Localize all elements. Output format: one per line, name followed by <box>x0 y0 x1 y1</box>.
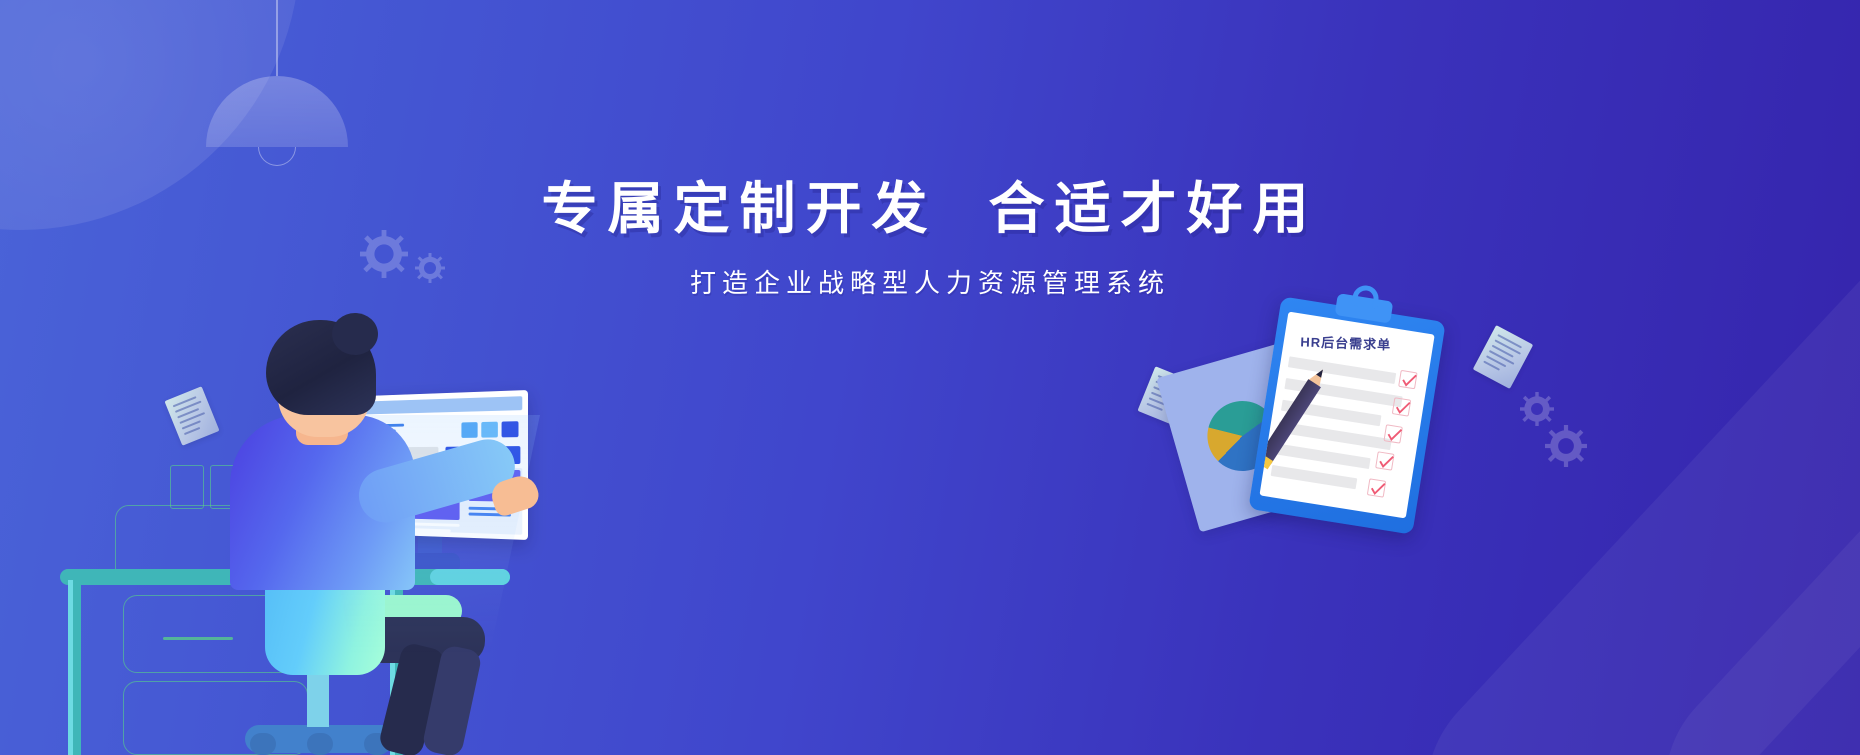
banner-title: 专属定制开发 合适才好用 <box>0 178 1860 241</box>
clipboard-checkbox[interactable] <box>1367 478 1386 497</box>
person-hair-bun <box>332 313 378 355</box>
hero-banner: 专属定制开发 合适才好用 打造企业战略型人力资源管理系统 <box>0 0 1860 755</box>
clipboard-page: HR后台需求单 <box>1259 312 1434 519</box>
clipboard-ring <box>1351 284 1380 310</box>
desk-leg-left <box>68 580 81 755</box>
clipboard-checkbox[interactable] <box>1392 397 1411 416</box>
clipboard: HR后台需求单 <box>1248 296 1446 534</box>
illustration-hr-clipboard: HR后台需求单 <box>1180 290 1510 590</box>
clipboard-text-line <box>1274 443 1371 469</box>
clipboard-checkbox[interactable] <box>1375 451 1394 470</box>
lamp-bulb <box>258 147 296 166</box>
clipboard-checkbox[interactable] <box>1398 370 1417 389</box>
chair-wheel-left <box>250 733 276 755</box>
gear-right-lower-icon <box>1545 425 1587 467</box>
screen-titlebar <box>350 396 522 415</box>
chair-wheel-center <box>307 733 333 755</box>
desk-surface-highlight <box>430 569 510 585</box>
gear-right-upper-icon <box>1520 392 1554 426</box>
clipboard-checkbox[interactable] <box>1383 424 1402 443</box>
lamp-cord <box>276 0 278 76</box>
illustration-person-at-desk <box>60 235 680 755</box>
clipboard-title: HR后台需求单 <box>1300 331 1391 353</box>
clipboard-text-line <box>1271 465 1358 489</box>
gear-small-icon <box>415 253 445 283</box>
gear-large-icon <box>360 230 408 278</box>
